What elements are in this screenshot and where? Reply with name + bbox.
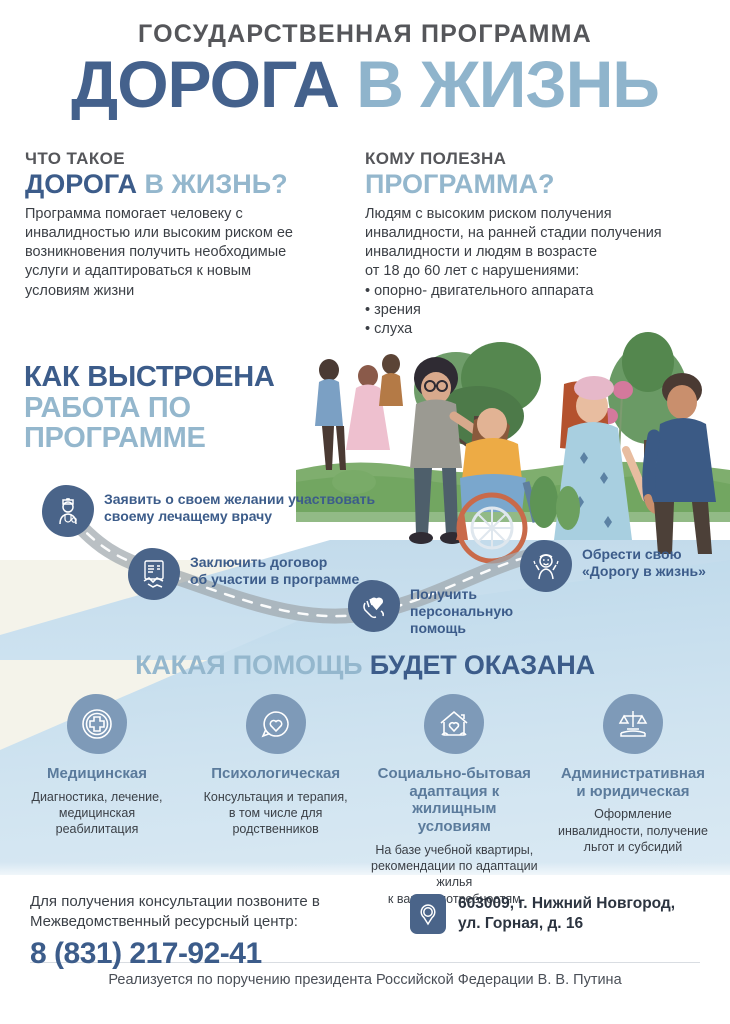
help-card-medical-heading: Медицинская (12, 765, 182, 783)
step-3-text: Получить персональную помощь (410, 586, 513, 636)
help-card-medical-line: медицинская (12, 805, 182, 821)
poster-header: ГОСУДАРСТВЕННАЯ ПРОГРАММА ДОРОГА В ЖИЗНЬ (0, 22, 730, 117)
help-card-administrative-legal-line: льгот и субсидий (548, 839, 718, 855)
help-card-administrative-legal-line: Оформление (548, 806, 718, 822)
intro-right-bullet: • зрения (365, 301, 710, 320)
intro-left-line: Программа помогает человеку с (25, 205, 345, 224)
intro-right-title-light: ПРОГРАММА? (365, 169, 554, 199)
location-pin-icon (410, 894, 446, 934)
footer-address-block: 603009, г. Нижний Новгород, ул. Горная, … (410, 894, 720, 934)
chat-heart-icon (246, 694, 306, 754)
help-card-administrative-legal-line: инвалидности, получение (548, 823, 718, 839)
help-card-social-housing-heading: Социально-бытовая адаптация к жилищным у… (369, 765, 539, 836)
help-title-dark: БУДЕТ ОКАЗАНА (370, 650, 595, 680)
help-card-social-housing-heading-line: адаптация к жилищным (369, 783, 539, 818)
step-2-text: Заключить договор об участии в программе (190, 554, 359, 588)
step-3-line: помощь (410, 620, 513, 637)
intro-right-line: от 18 до 60 лет с нарушениями: (365, 262, 710, 281)
help-card-psychological-line: родственников (191, 821, 361, 837)
intro-left-title-light: В ЖИЗНЬ? (145, 169, 288, 199)
intro-left-line: услуги и адаптироваться к новым (25, 262, 345, 281)
step-3: Получить персональную помощь (348, 580, 513, 636)
intro-right-body: Людям с высоким риском получения инвалид… (365, 205, 710, 339)
program-wordmark: ДОРОГА В ЖИЗНЬ (0, 51, 730, 117)
step-4-line: Обрести свою (582, 546, 706, 563)
help-card-medical-line: Диагностика, лечение, (12, 789, 182, 805)
help-card-social-housing-heading-line: Социально-бытовая (369, 765, 539, 783)
medical-cross-icon (67, 694, 127, 754)
help-card-administrative-legal-heading-line: Административная (548, 765, 718, 783)
help-cards: Медицинская Диагностика, лечение, медици… (12, 694, 718, 907)
intro-left-line: возникновения получить необходимые (25, 243, 345, 262)
step-3-line: Получить (410, 586, 513, 603)
intro-right-line: Людям с высоким риском получения (365, 205, 710, 224)
poster: ГОСУДАРСТВЕННАЯ ПРОГРАММА ДОРОГА В ЖИЗНЬ… (0, 0, 730, 1024)
step-2-line: Заключить договор (190, 554, 359, 571)
help-section-title: КАКАЯ ПОМОЩЬ БУДЕТ ОКАЗАНА (0, 650, 730, 681)
intro-left-title: ДОРОГА В ЖИЗНЬ? (25, 170, 345, 198)
intro-right-title: ПРОГРАММА? (365, 170, 710, 198)
step-4: Обрести свою «Дорогу в жизнь» (520, 540, 706, 592)
how-it-works-line-3: ПРОГРАММЕ (24, 423, 275, 454)
address-line: ул. Горная, д. 16 (458, 914, 675, 934)
how-it-works-line-1: КАК ВЫСТРОЕНА (24, 362, 275, 393)
help-card-medical-text: Диагностика, лечение, медицинская реабил… (12, 789, 182, 838)
help-card-psychological: Психологическая Консультация и терапия, … (191, 694, 361, 907)
help-card-medical-line: реабилитация (12, 821, 182, 837)
program-kicker: ГОСУДАРСТВЕННАЯ ПРОГРАММА (0, 22, 730, 47)
scales-justice-icon (603, 694, 663, 754)
help-card-social-housing-line: рекомендации по адаптации жилья (369, 858, 539, 891)
step-1: Заявить о своем желании участвовать свое… (42, 485, 375, 537)
step-2-line: об участии в программе (190, 571, 359, 588)
intro-right-kicker: КОМУ ПОЛЕЗНА (365, 150, 710, 169)
help-card-social-housing-heading-line: условиям (369, 818, 539, 836)
intro-right-bullet: • слуха (365, 320, 710, 339)
intro-right-line: инвалидности, на ранней стадии получения (365, 224, 710, 243)
help-card-psychological-heading: Психологическая (191, 765, 361, 783)
intro-left-line: условиям жизни (25, 282, 345, 301)
help-card-psychological-line: Консультация и терапия, (191, 789, 361, 805)
wordmark-part-light: В ЖИЗНЬ (356, 47, 659, 121)
help-card-administrative-legal-heading-line: и юридическая (548, 783, 718, 801)
intro-what-is-block: ЧТО ТАКОЕ ДОРОГА В ЖИЗНЬ? Программа помо… (25, 150, 345, 301)
how-it-works-line-2: РАБОТА ПО (24, 393, 275, 424)
phone-number[interactable]: 8 (831) 217-92-41 (30, 937, 410, 971)
wordmark-part-dark: ДОРОГА (71, 47, 339, 121)
intro-left-line: инвалидностью или высоким риском ее (25, 224, 345, 243)
step-1-line: своему лечащему врачу (104, 508, 375, 525)
happy-person-icon (520, 540, 572, 592)
footer-contact-block: Для получения консультации позвоните в М… (30, 892, 410, 971)
help-card-psychological-text: Консультация и терапия, в том числе для … (191, 789, 361, 838)
footer-lead-line: Межведомственный ресурсный центр: (30, 912, 410, 932)
step-3-line: персональную (410, 603, 513, 620)
help-card-administrative-legal-text: Оформление инвалидности, получение льгот… (548, 806, 718, 855)
intro-who-benefits-block: КОМУ ПОЛЕЗНА ПРОГРАММА? Людям с высоким … (365, 150, 710, 339)
help-card-administrative-legal: Административная и юридическая Оформлени… (548, 694, 718, 907)
step-4-line: «Дорогу в жизнь» (582, 563, 706, 580)
footer-lead: Для получения консультации позвоните в М… (30, 892, 410, 932)
step-4-text: Обрести свою «Дорогу в жизнь» (582, 546, 706, 580)
doctor-icon (42, 485, 94, 537)
step-2: Заключить договор об участии в программе (128, 548, 359, 600)
intro-left-kicker: ЧТО ТАКОЕ (25, 150, 345, 169)
intro-right-bullet: • опорно- двигательного аппарата (365, 282, 710, 301)
helping-hands-heart-icon (348, 580, 400, 632)
house-heart-icon (424, 694, 484, 754)
address-text: 603009, г. Нижний Новгород, ул. Горная, … (458, 894, 675, 934)
intro-right-bullets: • опорно- двигательного аппарата • зрени… (365, 282, 710, 339)
help-card-psychological-line: в том числе для (191, 805, 361, 821)
address-line: 603009, г. Нижний Новгород, (458, 894, 675, 914)
intro-left-title-dark: ДОРОГА (25, 169, 137, 199)
help-card-medical: Медицинская Диагностика, лечение, медици… (12, 694, 182, 907)
contract-handshake-icon (128, 548, 180, 600)
step-1-text: Заявить о своем желании участвовать свое… (104, 491, 375, 525)
intro-right-line: инвалидности и людям в возрасте (365, 243, 710, 262)
help-card-social-housing-line: На базе учебной квартиры, (369, 842, 539, 858)
footer-note: Реализуется по поручению президента Росс… (0, 972, 730, 988)
how-it-works-heading: КАК ВЫСТРОЕНА РАБОТА ПО ПРОГРАММЕ (24, 362, 275, 454)
help-card-administrative-legal-heading: Административная и юридическая (548, 765, 718, 800)
intro-left-body: Программа помогает человеку с инвалиднос… (25, 205, 345, 301)
step-1-line: Заявить о своем желании участвовать (104, 491, 375, 508)
help-card-social-housing: Социально-бытовая адаптация к жилищным у… (369, 694, 539, 907)
help-title-light: КАКАЯ ПОМОЩЬ (135, 650, 362, 680)
footer-lead-line: Для получения консультации позвоните в (30, 892, 410, 912)
